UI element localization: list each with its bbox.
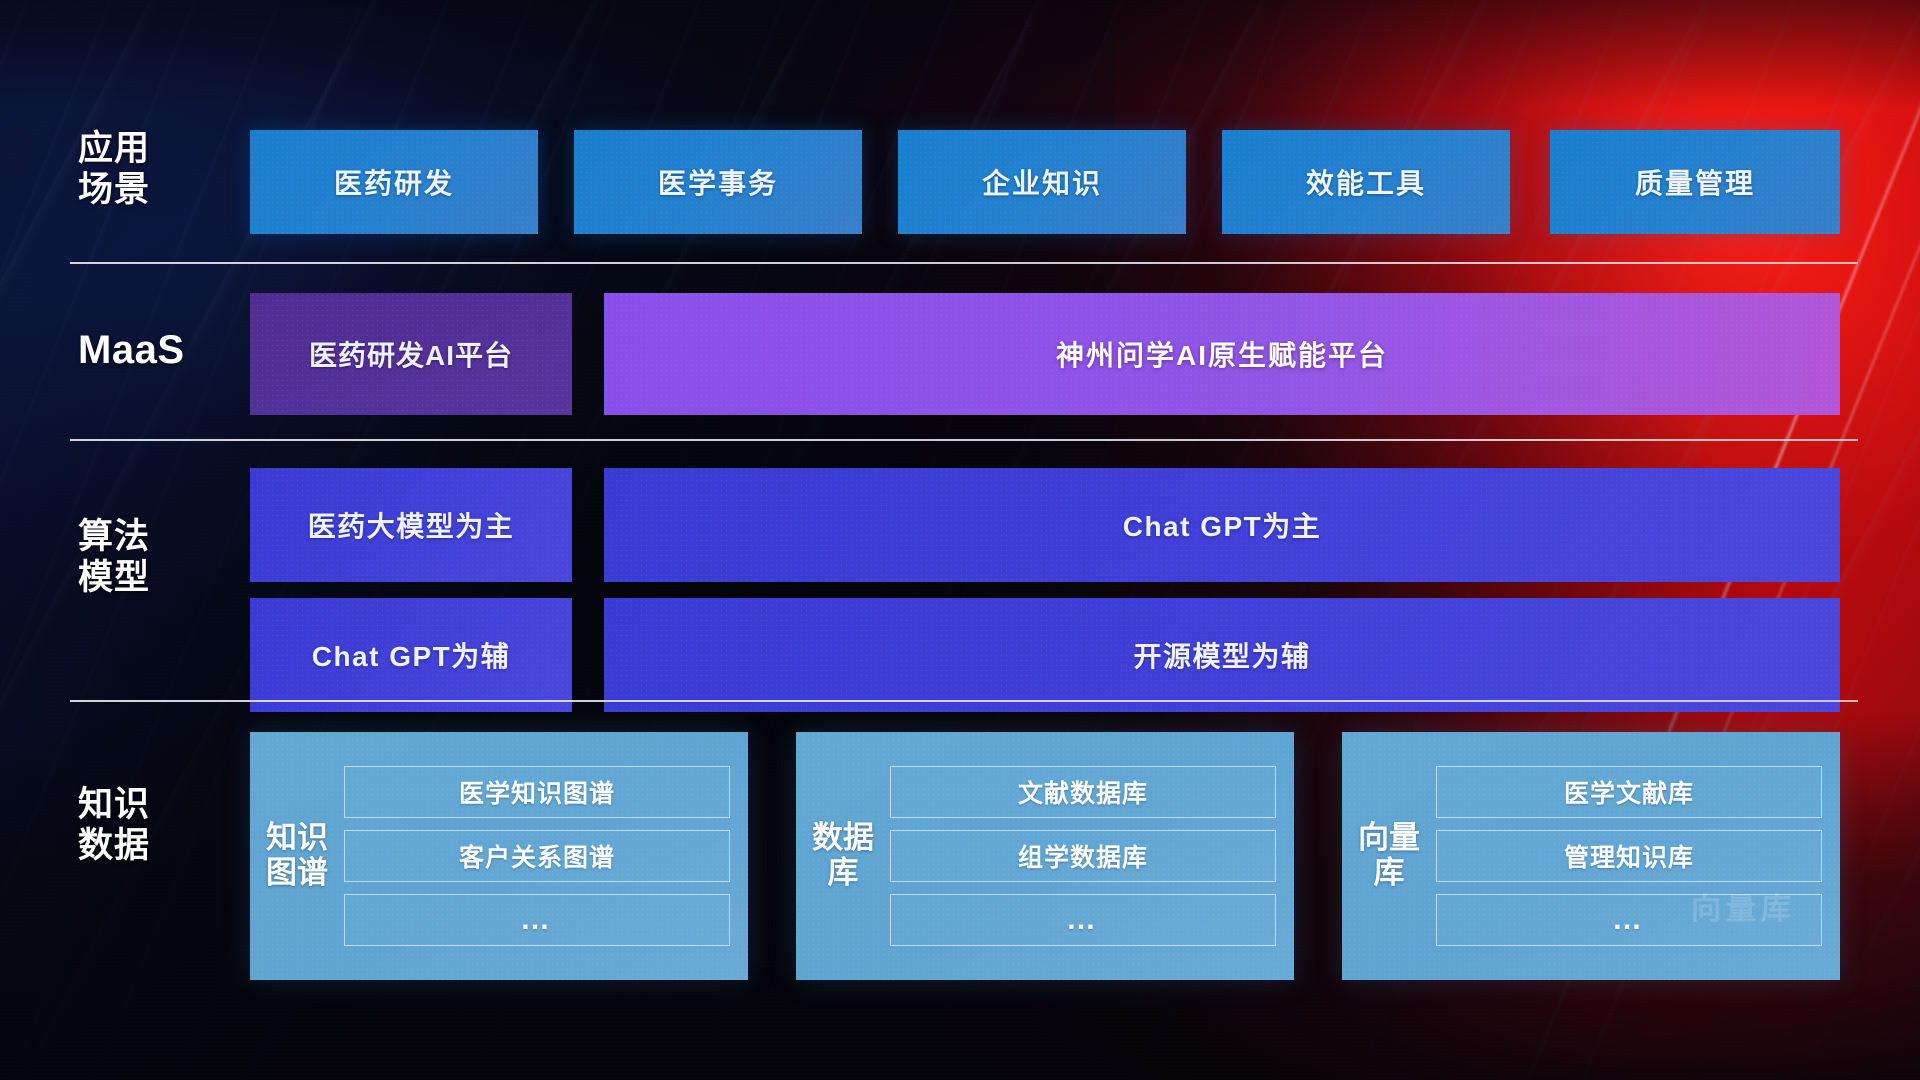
knowledge-item-literature-db[interactable]: 文献数据库 (890, 766, 1276, 818)
row-label-algorithm-line1: 算法 (78, 516, 228, 557)
knowledge-group-database[interactable]: 数据库 文献数据库 组学数据库 … (796, 732, 1294, 980)
row-label-algorithm: 算法 模型 (78, 516, 228, 599)
architecture-diagram: 应用 场景 医药研发 医学事务 企业知识 效能工具 质量管理 MaaS 医药研发… (0, 0, 1920, 1080)
app-cell-enterprise-knowledge[interactable]: 企业知识 (898, 130, 1186, 234)
knowledge-item-database-more[interactable]: … (890, 894, 1276, 946)
algo-cell-opensource-secondary[interactable]: 开源模型为辅 (604, 598, 1840, 712)
knowledge-item-management-knowledge[interactable]: 管理知识库 (1436, 830, 1822, 882)
knowledge-group-graph-title: 知识图谱 (264, 821, 330, 890)
divider-algorithm-knowledge (70, 700, 1858, 702)
row-label-algorithm-line2: 模型 (78, 557, 228, 598)
knowledge-group-graph[interactable]: 知识图谱 医学知识图谱 客户关系图谱 … (250, 732, 748, 980)
knowledge-item-customer-graph[interactable]: 客户关系图谱 (344, 830, 730, 882)
app-cell-medicine-rd[interactable]: 医药研发 (250, 130, 538, 234)
knowledge-item-medical-literature[interactable]: 医学文献库 (1436, 766, 1822, 818)
algo-cell-medicine-llm-primary[interactable]: 医药大模型为主 (250, 468, 572, 582)
knowledge-group-vector-items: 医学文献库 管理知识库 … (1436, 766, 1822, 946)
algo-cell-chatgpt-secondary[interactable]: Chat GPT为辅 (250, 598, 572, 712)
divider-maas-algorithm (70, 439, 1858, 441)
row-label-applications-line2: 场景 (78, 169, 228, 210)
maas-platform-shenzhou-wenxue[interactable]: 神州问学AI原生赋能平台 (604, 293, 1840, 415)
knowledge-item-graph-more[interactable]: … (344, 894, 730, 946)
app-cell-efficiency-tools[interactable]: 效能工具 (1222, 130, 1510, 234)
row-label-maas: MaaS (78, 327, 228, 374)
knowledge-group-graph-items: 医学知识图谱 客户关系图谱 … (344, 766, 730, 946)
knowledge-group-database-items: 文献数据库 组学数据库 … (890, 766, 1276, 946)
knowledge-item-medical-graph[interactable]: 医学知识图谱 (344, 766, 730, 818)
knowledge-item-vector-more[interactable]: … (1436, 894, 1822, 946)
knowledge-group-vector[interactable]: 向量库 医学文献库 管理知识库 … 向量库 (1342, 732, 1840, 980)
row-label-knowledge: 知识 数据 (78, 784, 228, 867)
knowledge-group-database-title: 数据库 (810, 821, 876, 890)
maas-platform-medicine-rd[interactable]: 医药研发AI平台 (250, 293, 572, 415)
app-cell-medical-affairs[interactable]: 医学事务 (574, 130, 862, 234)
knowledge-group-vector-title: 向量库 (1356, 821, 1422, 890)
divider-applications-maas (70, 262, 1858, 264)
app-cell-quality-management[interactable]: 质量管理 (1550, 130, 1840, 234)
row-label-knowledge-line1: 知识 (78, 784, 228, 825)
row-label-applications-line1: 应用 (78, 128, 228, 169)
row-label-knowledge-line2: 数据 (78, 825, 228, 866)
algo-cell-chatgpt-primary[interactable]: Chat GPT为主 (604, 468, 1840, 582)
row-label-applications: 应用 场景 (78, 128, 228, 211)
knowledge-item-omics-db[interactable]: 组学数据库 (890, 830, 1276, 882)
